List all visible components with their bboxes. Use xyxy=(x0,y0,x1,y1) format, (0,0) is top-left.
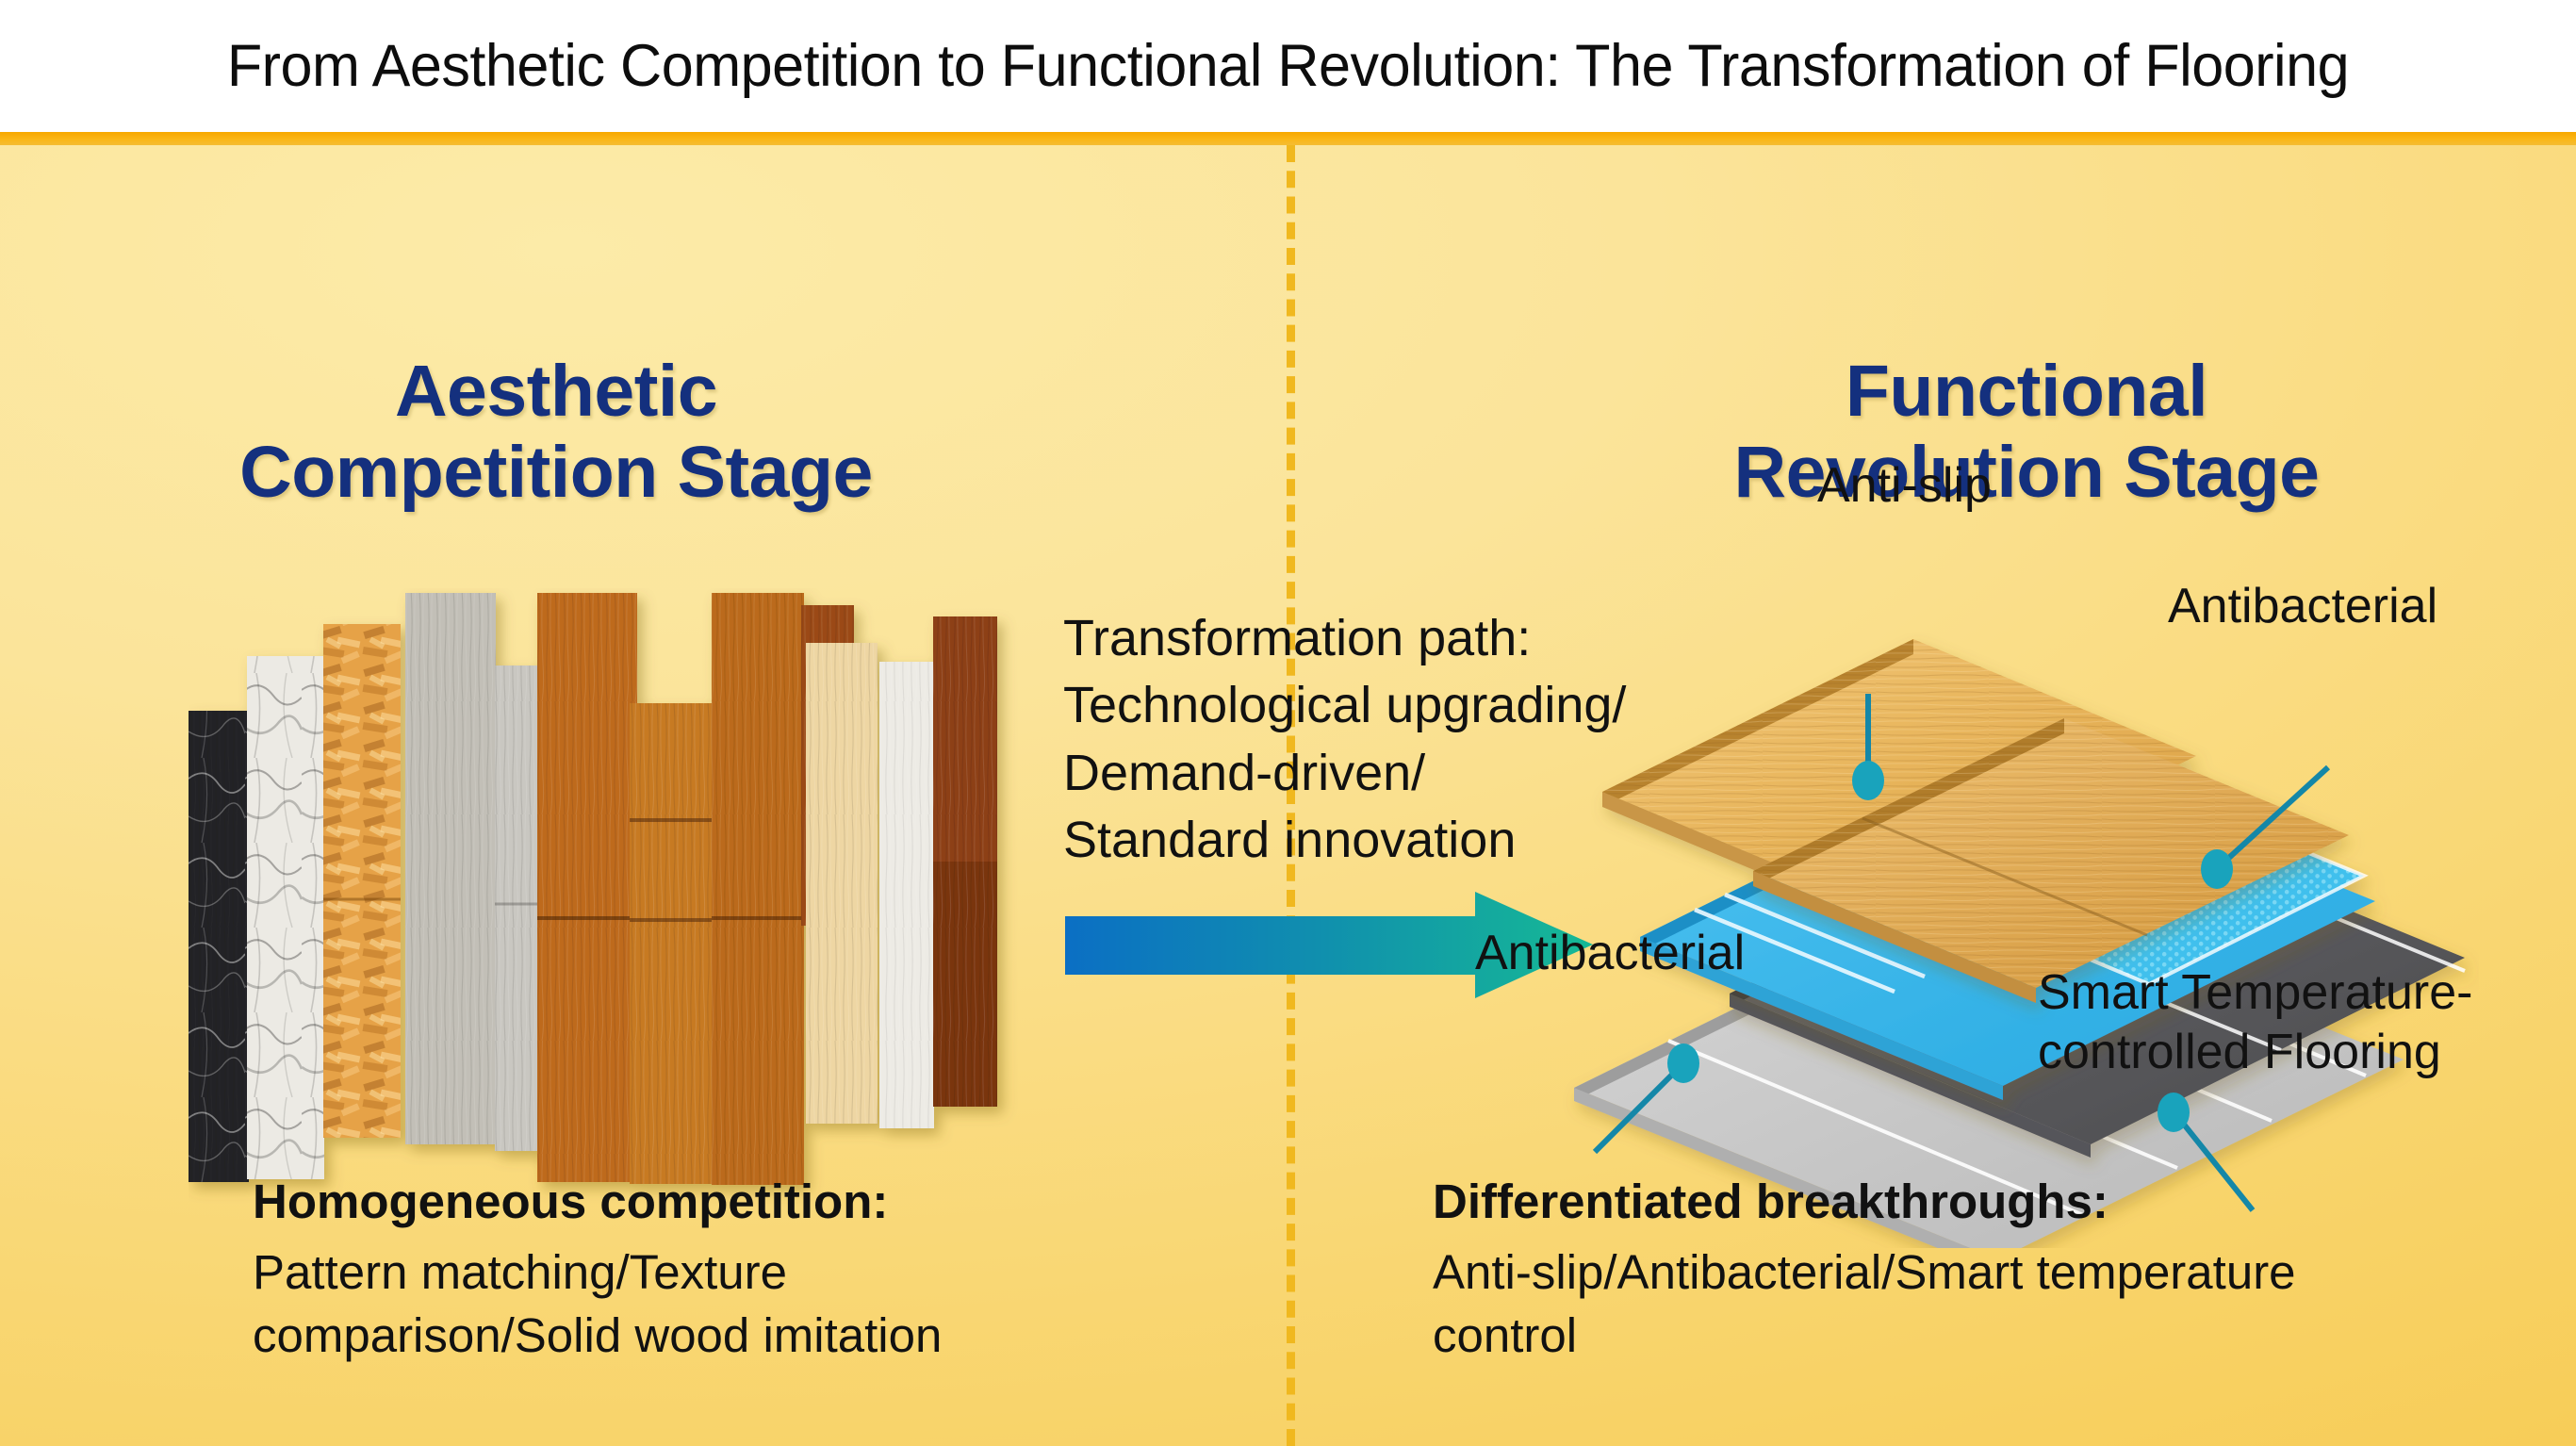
cork-osb-plank xyxy=(323,624,401,1138)
black-marble-plank xyxy=(189,711,249,1182)
header-accent-rule xyxy=(0,132,2576,145)
flooring-samples-image xyxy=(189,588,1037,1210)
dot-antibacterial-top xyxy=(2201,849,2233,889)
callout-antibacterial-bottom-label: Antibacterial xyxy=(1475,924,1745,983)
layered-flooring-svg xyxy=(1536,588,2479,1248)
flooring-samples-svg xyxy=(189,588,1037,1210)
left-stage-heading-line1: Aesthetic xyxy=(151,351,961,432)
dot-smart-temp xyxy=(2158,1093,2190,1132)
callout-smart-temp-label: Smart Temperature- controlled Flooring xyxy=(2038,963,2481,1083)
dark-oak-plank xyxy=(712,593,804,1185)
cream-maple-plank xyxy=(806,643,878,1124)
right-summary: Differentiated breakthroughs: Anti-slip/… xyxy=(1433,1171,2488,1367)
infographic-slide: From Aesthetic Competition to Functional… xyxy=(0,0,2576,1446)
left-summary: Homogeneous competition: Pattern matchin… xyxy=(253,1171,1205,1367)
left-stage-heading-line2: Competition Stage xyxy=(151,432,961,513)
left-summary-heading: Homogeneous competition: xyxy=(253,1171,1205,1232)
right-stage-heading-line1: Functional xyxy=(1602,351,2451,432)
white-oak-plank xyxy=(879,662,934,1128)
right-summary-body: Anti-slip/Antibacterial/Smart temperatur… xyxy=(1433,1241,2488,1367)
right-stage-heading-line2: Revolution Stage xyxy=(1602,432,2451,513)
amber-oak-plank xyxy=(537,593,637,1182)
walnut-plank xyxy=(933,616,997,1107)
header-bar: From Aesthetic Competition to Functional… xyxy=(0,0,2576,132)
callout-antibacterial-top-label: Antibacterial xyxy=(2168,577,2437,636)
callout-anti-slip-label: Anti-slip xyxy=(1817,456,1992,516)
layered-flooring-diagram xyxy=(1536,588,2479,1248)
dot-antibacterial-bottom xyxy=(1667,1043,1699,1083)
left-stage-heading: Aesthetic Competition Stage xyxy=(151,351,961,513)
grey-oak-plank xyxy=(405,593,496,1144)
white-marble-plank xyxy=(247,656,324,1179)
right-stage-heading: Functional Revolution Stage xyxy=(1602,351,2451,513)
body-canvas: Aesthetic Competition Stage Functional R… xyxy=(0,145,2576,1446)
mid-oak-plank xyxy=(630,703,720,1184)
dot-anti-slip xyxy=(1852,761,1884,800)
left-summary-body: Pattern matching/Texture comparison/Soli… xyxy=(253,1241,1205,1367)
page-title: From Aesthetic Competition to Functional… xyxy=(227,32,2349,100)
right-summary-heading: Differentiated breakthroughs: xyxy=(1433,1171,2488,1232)
